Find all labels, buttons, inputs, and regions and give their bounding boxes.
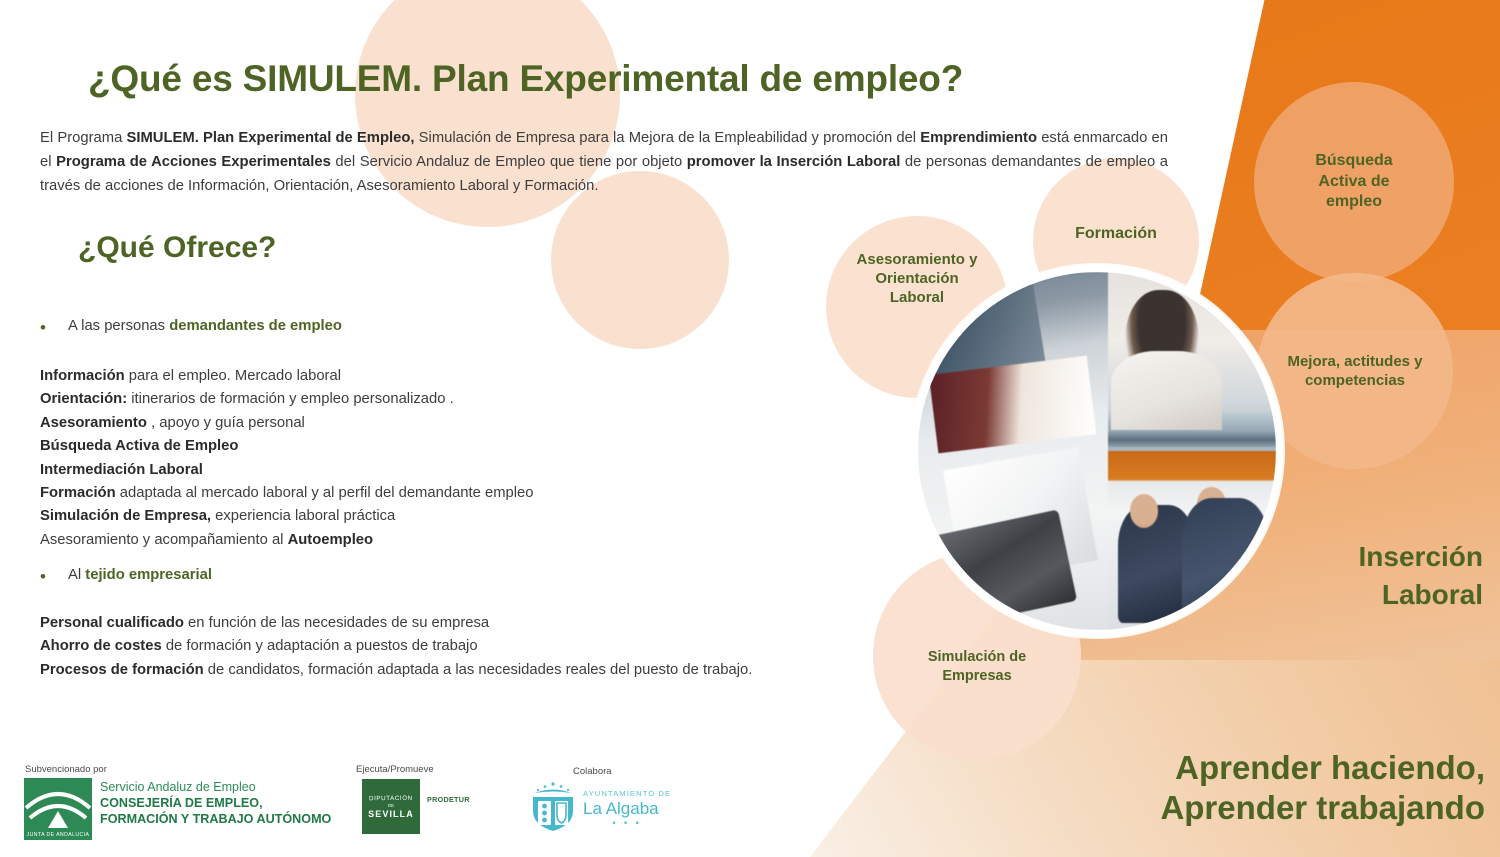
photo-glass-rail bbox=[1108, 412, 1276, 448]
list2-2-rest: de candidatos, formación adaptada a las … bbox=[204, 662, 753, 678]
bullet2-bold: tejido empresarial bbox=[85, 567, 212, 583]
photo-person-head-left bbox=[1130, 494, 1159, 528]
list2-1-rest: de formación y adaptación a puestos de t… bbox=[162, 638, 478, 654]
intro-text-2: SIMULEM. Plan Experimental de Empleo, bbox=[126, 130, 414, 146]
list1-2-rest: , apoyo y guía personal bbox=[147, 415, 305, 431]
la-algaba-shield-icon bbox=[527, 781, 579, 833]
bullet-point-icon: • bbox=[40, 567, 68, 585]
list1-7-bold-tail: Autoempleo bbox=[288, 532, 374, 548]
intro-text-4: Emprendimiento bbox=[920, 130, 1037, 146]
bubble-formacion-label: Formación bbox=[1075, 224, 1157, 244]
list-item: Simulación de Empresa, experiencia labor… bbox=[40, 505, 534, 528]
list-item: Asesoramiento , apoyo y guía personal bbox=[40, 412, 534, 435]
section-subtitle: ¿Qué Ofrece? bbox=[78, 231, 276, 265]
bullet-point-icon: • bbox=[40, 318, 68, 336]
bullet-tejido-empresarial: • Al tejido empresarial bbox=[40, 567, 212, 585]
offer-list-empresas: Personal cualificado en función de las n… bbox=[40, 612, 752, 682]
prodetur-logo: PRODETUR bbox=[427, 795, 470, 804]
intro-text-8: promover la Inserción Laboral bbox=[687, 154, 901, 170]
bullet-demandantes: • A las personas demandantes de empleo bbox=[40, 318, 342, 336]
slogan-line-2: Aprender trabajando bbox=[1035, 788, 1485, 828]
bubble-mejora-line2: competencias bbox=[1287, 371, 1422, 390]
list-item: Información para el empleo. Mercado labo… bbox=[40, 365, 534, 388]
list1-6-rest: experiencia laboral práctica bbox=[211, 508, 395, 524]
list1-5-bold: Formación bbox=[40, 485, 116, 501]
list-item: Asesoramiento y acompañamiento al Autoem… bbox=[40, 529, 534, 552]
junta-logo-caption: JUNTA DE ANDALUCIA bbox=[24, 832, 92, 838]
bubble-asesoramiento-line1: Asesoramiento y bbox=[857, 250, 978, 269]
list2-0-bold: Personal cualificado bbox=[40, 615, 184, 631]
list1-6-bold: Simulación de Empresa, bbox=[40, 508, 211, 524]
servicio-andaluz-empleo-text: Servicio Andaluz de Empleo CONSEJERÍA DE… bbox=[100, 780, 331, 827]
photo-meeting-desk bbox=[918, 272, 1108, 630]
list1-4-bold: Intermediación Laboral bbox=[40, 462, 203, 478]
sae-line-1: Servicio Andaluz de Empleo bbox=[100, 780, 331, 796]
intro-text-7: del Servicio Andaluz de Empleo que tiene… bbox=[331, 154, 687, 170]
footer-label-colabora: Colabora bbox=[573, 766, 612, 777]
bullet2-plain: Al bbox=[68, 567, 85, 583]
list1-2-bold: Asesoramiento bbox=[40, 415, 147, 431]
label-insercion-line2: Laboral bbox=[1359, 576, 1483, 614]
photo-keyboard bbox=[921, 509, 1078, 629]
list2-1-bold: Ahorro de costes bbox=[40, 638, 162, 654]
photo-collage-circle bbox=[911, 265, 1283, 637]
list1-3-bold: Búsqueda Activa de Empleo bbox=[40, 438, 238, 454]
photo-two-businessmen bbox=[1108, 451, 1276, 630]
photo-collage-grid bbox=[918, 272, 1276, 630]
list1-0-rest: para el empleo. Mercado laboral bbox=[125, 368, 341, 384]
list1-7-rest: Asesoramiento y acompañamiento al bbox=[40, 532, 288, 548]
label-insercion-line1: Inserción bbox=[1359, 538, 1483, 576]
slogan-line-1: Aprender haciendo, bbox=[1035, 748, 1485, 788]
algaba-dots: • • • bbox=[583, 818, 671, 828]
intro-text-3: Simulación de Empresa para la Mejora de … bbox=[415, 130, 921, 146]
bubble-busqueda-activa[interactable]: Búsqueda Activa de empleo bbox=[1254, 82, 1454, 282]
intro-text-1: El Programa bbox=[40, 130, 126, 146]
list-item: Búsqueda Activa de Empleo bbox=[40, 435, 534, 458]
diputacion-line-3: SEVILLA bbox=[368, 809, 414, 819]
junta-arcs-icon bbox=[24, 778, 92, 840]
diputacion-sevilla-logo: DIPUTACION DE SEVILLA bbox=[362, 779, 420, 834]
diputacion-line-1: DIPUTACION bbox=[369, 794, 413, 801]
page-title: ¿Qué es SIMULEM. Plan Experimental de em… bbox=[88, 58, 963, 100]
slogan: Aprender haciendo, Aprender trabajando bbox=[1035, 748, 1485, 829]
list1-0-bold: Información bbox=[40, 368, 125, 384]
bubble-busqueda-line1: Búsqueda bbox=[1315, 151, 1392, 171]
bubble-insercion-laboral[interactable]: Inserción Laboral bbox=[1283, 530, 1483, 622]
list-item: Procesos de formación de candidatos, for… bbox=[40, 659, 752, 682]
bullet1-bold: demandantes de empleo bbox=[169, 318, 342, 334]
list1-5-rest: adaptada al mercado laboral y al perfil … bbox=[116, 485, 534, 501]
list2-0-rest: en función de las necesidades de su empr… bbox=[184, 615, 489, 631]
footer-label-subvencionado: Subvencionado por bbox=[25, 764, 107, 775]
photo-person-head-right bbox=[1197, 487, 1226, 521]
bubble-simulacion-line1: Simulación de bbox=[928, 648, 1026, 667]
bubble-busqueda-line3: empleo bbox=[1315, 192, 1392, 212]
intro-text-6: Programa de Acciones Experimentales bbox=[56, 154, 331, 170]
list-item: Orientación: itinerarios de formación y … bbox=[40, 388, 534, 411]
bubble-busqueda-line2: Activa de bbox=[1315, 172, 1392, 192]
bubble-mejora-line1: Mejora, actitudes y bbox=[1287, 352, 1422, 371]
bullet1-plain: A las personas bbox=[68, 318, 169, 334]
list1-1-bold: Orientación: bbox=[40, 391, 127, 407]
list-item: Personal cualificado en función de las n… bbox=[40, 612, 752, 635]
slide-canvas: Búsqueda Activa de empleo Formación Ases… bbox=[0, 0, 1500, 857]
algaba-line-2: La Algaba bbox=[583, 799, 671, 819]
list2-2-bold: Procesos de formación bbox=[40, 662, 204, 678]
bubble-mejora-competencias[interactable]: Mejora, actitudes y competencias bbox=[1257, 273, 1453, 469]
bubble-simulacion-line2: Empresas bbox=[928, 667, 1026, 686]
photo-woman-working bbox=[1108, 272, 1276, 451]
list1-1-rest: itinerarios de formación y empleo person… bbox=[127, 391, 454, 407]
sae-line-3: FORMACIÓN Y TRABAJO AUTÓNOMO bbox=[100, 812, 331, 828]
intro-paragraph: El Programa SIMULEM. Plan Experimental d… bbox=[40, 127, 1168, 199]
list-item: Intermediación Laboral bbox=[40, 459, 534, 482]
diputacion-line-2: DE bbox=[388, 803, 394, 808]
sae-line-2: CONSEJERÍA DE EMPLEO, bbox=[100, 796, 331, 812]
list-item: Formación adaptada al mercado laboral y … bbox=[40, 482, 534, 505]
junta-de-andalucia-logo: JUNTA DE ANDALUCIA bbox=[24, 778, 92, 840]
footer-label-ejecuta: Ejecuta/Promueve bbox=[356, 764, 434, 775]
la-algaba-wordmark: AYUNTAMIENTO DE La Algaba • • • bbox=[583, 790, 671, 829]
offer-list-demandantes: Información para el empleo. Mercado labo… bbox=[40, 365, 534, 552]
algaba-line-1: AYUNTAMIENTO DE bbox=[583, 790, 671, 799]
list-item: Ahorro de costes de formación y adaptaci… bbox=[40, 635, 752, 658]
photo-pen bbox=[997, 398, 1041, 423]
